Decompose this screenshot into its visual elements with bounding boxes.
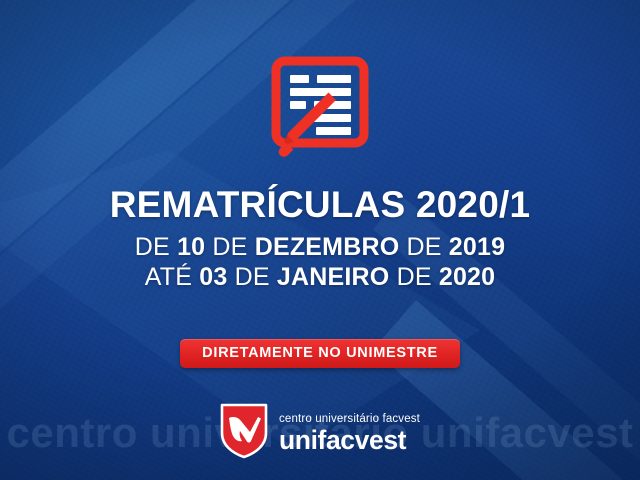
document-with-pencil-icon: [265, 52, 375, 167]
date-line-from: DE 10 DE DEZEMBRO DE 2019: [0, 233, 640, 263]
date-line-until-year: 2020: [439, 263, 495, 291]
date-line-from-sep1: DE: [205, 233, 254, 261]
cta-container: DIRETAMENTE NO UNIMESTRE: [0, 339, 640, 368]
date-line-from-month: DEZEMBRO: [255, 233, 400, 261]
date-line-until: ATÉ 03 DE JANEIRO DE 2020: [0, 263, 640, 293]
date-line-until-day: 03: [199, 263, 227, 291]
logo-text-block: centro universitário facvest unifacvest: [279, 414, 420, 454]
date-line-until-month: JANEIRO: [277, 263, 390, 291]
date-line-from-prefix: DE: [135, 233, 177, 261]
logo-wordmark: unifacvest: [279, 427, 420, 454]
unimestre-cta-button[interactable]: DIRETAMENTE NO UNIMESTRE: [180, 339, 460, 368]
hero-icon-container: [0, 52, 640, 167]
date-line-until-prefix: ATÉ: [145, 263, 200, 291]
date-line-from-day: 10: [177, 233, 205, 261]
date-line-from-year: 2019: [449, 233, 505, 261]
unifacvest-logo: centro universitário facvest unifacvest: [0, 403, 640, 464]
date-line-until-sep2: DE: [389, 263, 438, 291]
headline-block: REMATRÍCULAS 2020/1 DE 10 DE DEZEMBRO DE…: [0, 186, 640, 293]
promo-banner: centro universitário unifacvest: [0, 0, 640, 480]
date-line-until-sep1: DE: [227, 263, 276, 291]
date-line-from-sep2: DE: [399, 233, 448, 261]
unifacvest-shield-icon: [220, 403, 268, 464]
logo-tagline: centro universitário facvest: [279, 414, 420, 426]
page-title: REMATRÍCULAS 2020/1: [0, 186, 640, 225]
